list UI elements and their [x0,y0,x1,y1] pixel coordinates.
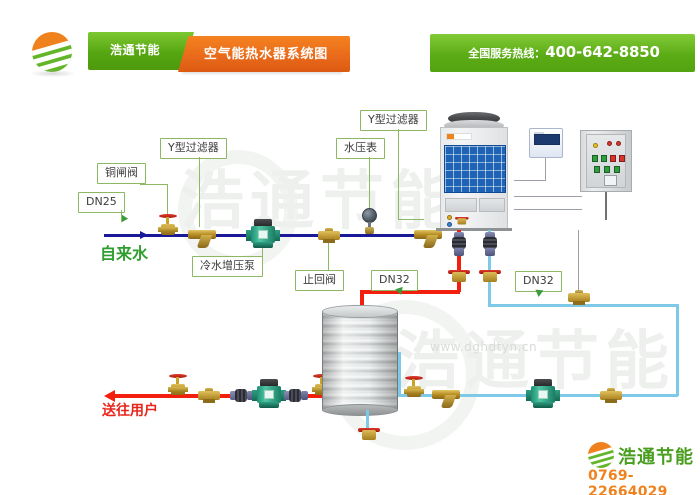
callout-booster-pump: 冷水增压泵 [192,256,263,277]
wire-hp-to-cabinet-2 [514,209,582,210]
watermark-url: www.dghdtyn.cn [430,340,537,354]
footer-logo: 浩通节能 0769-22664029 [588,440,696,488]
water-pressure-gauge [362,208,378,234]
heat-pump-base [436,228,512,231]
air-source-heat-pump-unit [434,112,514,230]
heat-pump-panel-right [479,198,505,212]
callout-check-valve: 止回阀 [295,270,344,291]
indicator-light-yellow [593,143,598,148]
leader-arrow-dn32-hot-icon [395,287,405,296]
hotline-number: 400-642-8850 [545,43,659,61]
callout-dn25: DN25 [78,192,125,213]
wire-hp-to-cabinet-1 [514,196,582,197]
electrical-control-cabinet[interactable] [580,130,632,192]
flexible-joint-hot [452,232,466,258]
brass-gate-valve-inlet [158,214,178,236]
switch-green-5[interactable] [614,166,620,173]
leader-arrow-dn32-cold-icon [535,290,544,298]
check-valve-cold-upper [568,290,590,305]
hotline-label: 全国服务热线： [468,47,545,60]
gate-valve-outlet-2 [264,374,284,396]
pipe-cold-tank-feed [398,352,401,396]
callout-dn32-hot: DN32 [371,270,418,291]
leader-y-filter-1 [199,157,200,227]
y-filter-inlet [188,226,216,248]
stainless-steel-water-tank [322,305,398,417]
tank-shell [322,311,398,411]
hotline: 全国服务热线：400-642-8850 [440,43,688,61]
footer-sphere-logo-icon [588,442,614,468]
switch-red-2[interactable] [619,155,625,162]
header-brand: 浩通节能 [95,41,175,58]
wire-controller-drop [545,158,546,181]
gate-valve-tank-cold-inlet [404,376,424,398]
callout-gate-valve: 铜闸阀 [97,163,146,184]
diagram-canvas: 浩通节能 浩通节能 www.dghdtyn.cn 浩通节能 空气能热水器系统图 … [0,0,700,495]
cabinet-meter [604,175,617,186]
leader-arrow-dn25-icon [118,213,128,223]
check-valve-main [318,228,340,243]
callout-y-filter-1: Y型过滤器 [160,138,227,159]
circulation-pump-return [530,379,556,409]
y-filter-return [432,386,460,408]
leader-pressure-gauge [369,157,370,208]
leader-y-filter-2-h [398,219,424,220]
ball-valve-hot-riser [448,270,470,284]
leader-check-valve [328,243,329,271]
heat-pump-panel-left [445,198,477,212]
leader-gate-valve-h [140,184,168,185]
cold-water-booster-pump [250,219,276,249]
footer-tel: 0769-22664029 [588,468,696,495]
header-banner: 浩通节能 空气能热水器系统图 全国服务热线：400-642-8850 [0,30,700,76]
check-valve-return [600,388,622,403]
heat-pump-brand-logo-icon [446,133,472,140]
switch-red-1[interactable] [610,155,616,162]
indicator-light-red-2 [616,141,621,146]
wall-controller-display[interactable] [529,128,563,158]
controller-screen [534,134,560,145]
inlet-label: 自来水 [100,240,148,264]
switch-green-2[interactable] [601,155,607,162]
ball-valve-cold-riser [479,270,501,284]
pipe-tank-drain [366,410,369,430]
heat-pump-model-logo-icon [481,132,503,141]
leader-gate-valve-v [167,184,168,214]
drain-ball-valve [358,428,380,442]
callout-y-filter-2: Y型过滤器 [360,110,427,131]
outlet-label: 送往用户 [102,400,158,420]
cabinet-stand [605,192,607,220]
tank-top-cap [322,305,398,318]
cabinet-door [586,134,626,188]
leader-y-filter-2-v [398,129,399,219]
callout-pressure-gauge: 水压表 [336,138,385,159]
flexible-joint-cold [483,232,497,258]
leader-booster-pump [262,248,263,258]
wire-hp-to-controller [514,180,546,181]
switch-green-1[interactable] [592,155,598,162]
leader-dn25 [121,210,122,222]
tank-bottom-cap [322,404,398,416]
heat-pump-body [440,127,508,230]
page-title: 空气能热水器系统图 [188,43,344,62]
flow-arrow-inlet-icon [140,231,148,239]
check-valve-outlet [198,388,220,403]
switch-green-4[interactable] [604,166,610,173]
gate-valve-outlet [168,374,188,396]
pipe-cold-right-riser [676,304,679,396]
wire-cabinet-drop [578,230,579,292]
heat-pump-evaporator-coil [444,145,506,193]
footer-brand: 浩通节能 [618,443,694,469]
indicator-light-red-1 [607,141,612,146]
switch-green-3[interactable] [594,166,600,173]
flexible-joint-outlet-right [284,389,310,402]
